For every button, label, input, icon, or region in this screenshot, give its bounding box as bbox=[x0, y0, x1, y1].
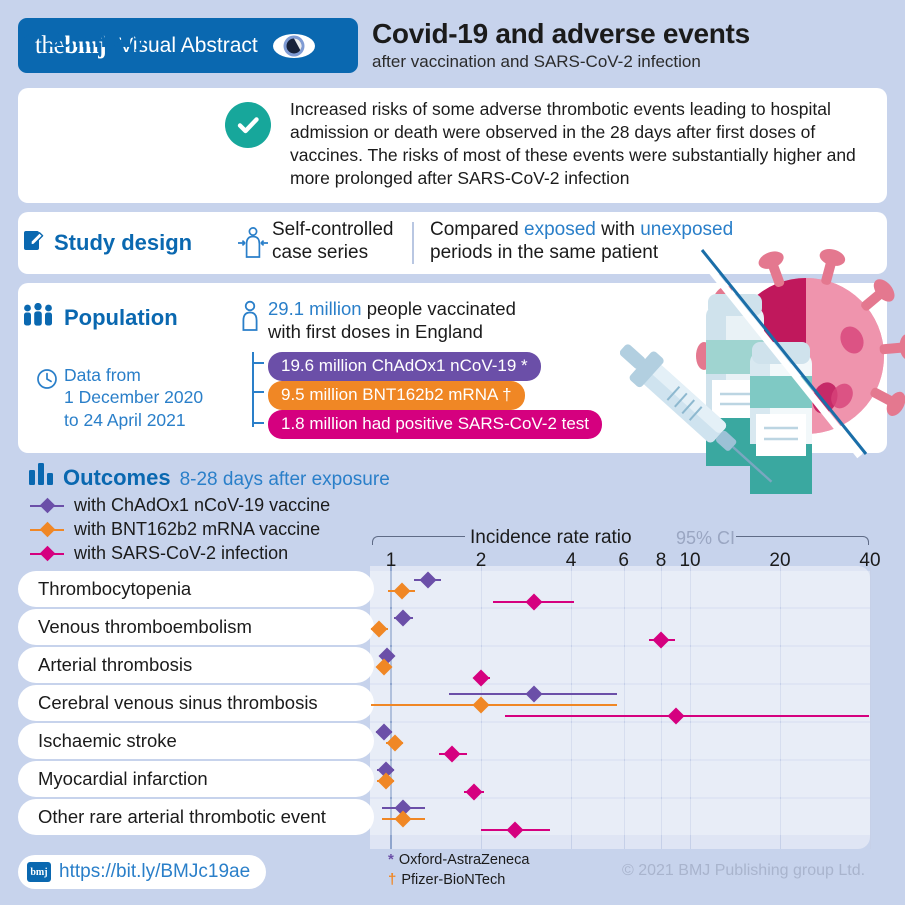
chart-row-label-text: Arterial thrombosis bbox=[38, 654, 192, 676]
chart-row-label: Venous thromboembolism bbox=[18, 609, 374, 645]
page-title: Covid-19 and adverse events bbox=[372, 19, 892, 48]
summary-text: Increased risks of some adverse thrombot… bbox=[290, 98, 878, 190]
legend-item-sars-cov-2: with SARS-CoV-2 infection bbox=[30, 543, 288, 564]
chart-row-label: Thrombocytopenia bbox=[18, 571, 374, 607]
comparison-line2: periods in the same patient bbox=[430, 242, 733, 265]
visual-abstract-page: thebmj Visual Abstract Covid-19 and adve… bbox=[0, 0, 905, 905]
legend-marker-chadox1 bbox=[30, 499, 64, 513]
legend-item-chadox1: with ChAdOx1 nCoV-19 vaccine bbox=[30, 495, 330, 516]
people-group-icon bbox=[22, 303, 54, 332]
comparison-mid: with bbox=[596, 219, 640, 240]
data-from-line1: Data from bbox=[64, 364, 203, 386]
chart-row-band bbox=[370, 571, 870, 607]
summary-label: Summary bbox=[46, 27, 146, 53]
legend-label-bnt162b2: with BNT162b2 mRNA vaccine bbox=[74, 519, 320, 540]
copyright-text: © 2021 BMJ Publishing group Ltd. bbox=[622, 862, 865, 880]
population-headline: 29.1 million people vaccinated with firs… bbox=[268, 297, 568, 343]
legend-label-sars-cov-2: with SARS-CoV-2 infection bbox=[74, 543, 288, 564]
outcomes-heading: Outcomes 8-28 days after exposure bbox=[28, 463, 390, 491]
clock-icon bbox=[36, 368, 58, 395]
legend-marker-bnt162b2 bbox=[30, 523, 64, 537]
footnote-text-dagger: Pfizer-BioNTech bbox=[401, 872, 505, 888]
comparison-unexposed: unexposed bbox=[640, 219, 733, 240]
population-number: 29.1 million bbox=[268, 298, 362, 319]
bar-chart-icon bbox=[28, 463, 54, 490]
chart-row-label: Cerebral venous sinus thrombosis bbox=[18, 685, 374, 721]
chart-row-band bbox=[370, 609, 870, 645]
footnote-dagger: †Pfizer-BioNTech bbox=[388, 871, 505, 888]
comparison-exposed: exposed bbox=[524, 219, 596, 240]
person-icon bbox=[240, 300, 260, 353]
chart-row-label-text: Myocardial infarction bbox=[38, 768, 208, 790]
data-from-line3: to 24 April 2021 bbox=[64, 409, 203, 431]
chart-row-label: Ischaemic stroke bbox=[18, 723, 374, 759]
bracket-tick bbox=[252, 391, 264, 393]
study-design-label: Study design bbox=[54, 230, 192, 256]
population-pill-sars-cov-2-test: 1.8 million had positive SARS-CoV-2 test bbox=[268, 410, 602, 439]
page-subtitle: after vaccination and SARS-CoV-2 infecti… bbox=[372, 52, 892, 72]
footnote-text-asterisk: Oxford-AstraZeneca bbox=[399, 852, 530, 868]
population-pill-bnt162b2: 9.5 million BNT162b2 mRNA † bbox=[268, 381, 525, 410]
gridline-40 bbox=[870, 566, 871, 849]
bracket-tick bbox=[252, 422, 264, 424]
comparison-pre: Compared bbox=[430, 219, 524, 240]
summary-heading: “ Summary bbox=[22, 27, 146, 53]
chart-row-label: Other rare arterial thrombotic event bbox=[18, 799, 374, 835]
population-headline-line2: with first doses in England bbox=[268, 320, 568, 343]
study-design-heading: Study design bbox=[22, 228, 192, 257]
population-heading: Population bbox=[22, 303, 178, 332]
bracket-tick bbox=[252, 362, 264, 364]
check-circle-icon bbox=[225, 102, 271, 148]
axis-bracket-left bbox=[372, 536, 465, 545]
chart-row-label: Myocardial infarction bbox=[18, 761, 374, 797]
confidence-interval-line bbox=[505, 715, 869, 718]
axis-title: Incidence rate ratio bbox=[470, 527, 632, 549]
study-method-line2: case series bbox=[272, 242, 393, 265]
study-method-line1: Self-controlled bbox=[272, 219, 393, 242]
footer-url-text[interactable]: https://bit.ly/BMJc19ae bbox=[59, 861, 250, 883]
bmj-badge-icon: bmj bbox=[27, 862, 51, 882]
axis-ci-label: 95% CI bbox=[676, 528, 735, 549]
chart-row-band bbox=[370, 761, 870, 797]
chart-row-label-text: Venous thromboembolism bbox=[38, 616, 252, 638]
legend-item-bnt162b2: with BNT162b2 mRNA vaccine bbox=[30, 519, 320, 540]
self-controlled-person-icon bbox=[237, 226, 269, 265]
axis-bracket-right bbox=[736, 536, 869, 545]
footnote-symbol-asterisk: * bbox=[388, 851, 394, 868]
pencil-square-icon bbox=[22, 228, 44, 257]
study-comparison-text: Compared exposed with unexposed periods … bbox=[430, 219, 733, 265]
data-from-line2: 1 December 2020 bbox=[64, 386, 203, 408]
legend-label-chadox1: with ChAdOx1 nCoV-19 vaccine bbox=[74, 495, 330, 516]
chart-row-band bbox=[370, 647, 870, 683]
quote-icon: “ bbox=[22, 38, 37, 55]
chart-row-label-text: Thrombocytopenia bbox=[38, 578, 191, 600]
footnote-asterisk: *Oxford-AstraZeneca bbox=[388, 851, 529, 868]
study-divider bbox=[412, 222, 414, 264]
study-method-text: Self-controlled case series bbox=[272, 219, 393, 265]
outcomes-label: Outcomes bbox=[63, 465, 171, 491]
chart-row-label-text: Cerebral venous sinus thrombosis bbox=[38, 692, 318, 714]
legend-marker-sars-cov-2 bbox=[30, 547, 64, 561]
chart-row-band bbox=[370, 799, 870, 835]
footnote-symbol-dagger: † bbox=[388, 871, 396, 888]
chart-row-label-text: Other rare arterial thrombotic event bbox=[38, 806, 326, 828]
population-label: Population bbox=[64, 305, 178, 331]
outcomes-sublabel: 8-28 days after exposure bbox=[180, 469, 390, 491]
data-period: Data from 1 December 2020 to 24 April 20… bbox=[64, 364, 203, 431]
eye-icon bbox=[272, 33, 316, 59]
confidence-interval-line bbox=[371, 704, 617, 707]
chart-row-label-text: Ischaemic stroke bbox=[38, 730, 177, 752]
population-headline-rest: people vaccinated bbox=[362, 298, 516, 319]
bmj-short-link[interactable]: bmj https://bit.ly/BMJc19ae bbox=[18, 855, 266, 889]
chart-row-label: Arterial thrombosis bbox=[18, 647, 374, 683]
population-pill-chadox1: 19.6 million ChAdOx1 nCoV-19 * bbox=[268, 352, 541, 381]
